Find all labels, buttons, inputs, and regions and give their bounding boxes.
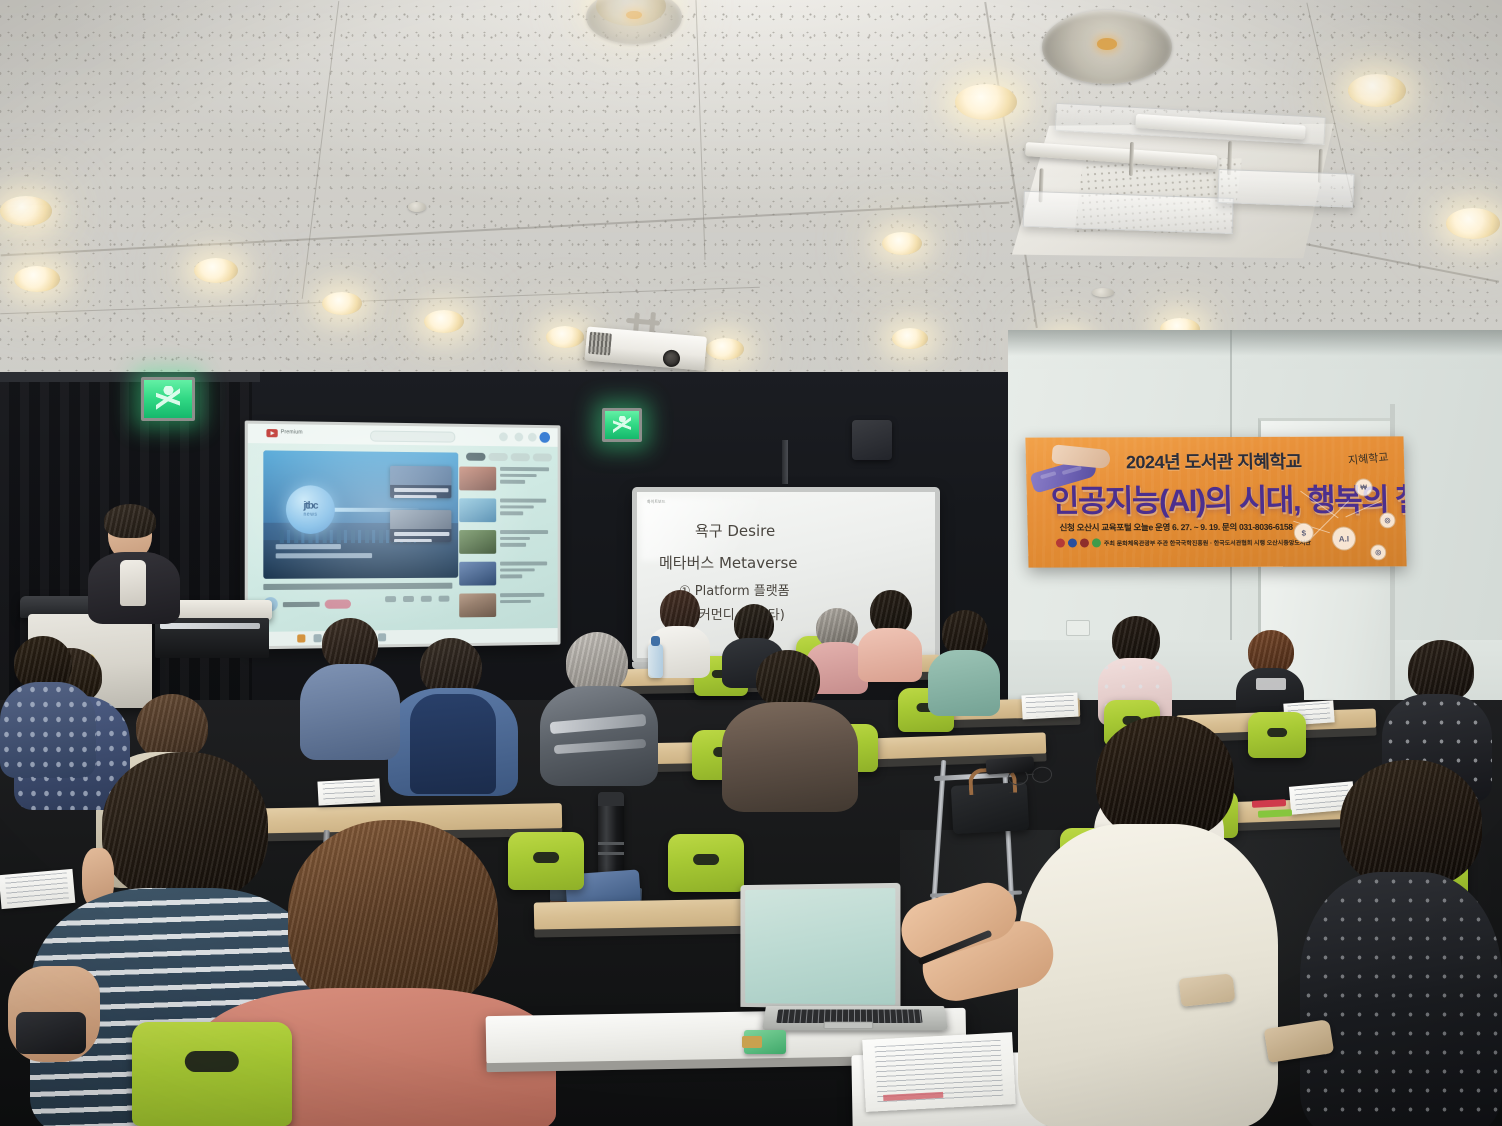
hair	[1112, 616, 1160, 664]
downlight	[546, 326, 584, 348]
banner-info-line: 신청 오산시 교육포털 오늘e 운영 6. 27. ~ 9. 19. 문의 03…	[1059, 521, 1292, 534]
laptop-lid	[740, 883, 900, 1009]
banner-orgs-text: 주최 문화체육관광부 주관 한국국학진흥원 · 한국도서관협회 시행 오산시중앙…	[1104, 538, 1311, 548]
small-object	[742, 1036, 762, 1048]
running-man-icon	[156, 386, 181, 411]
console-control-strip[interactable]	[160, 623, 260, 629]
torso	[858, 628, 922, 682]
hair	[756, 650, 820, 708]
downlight	[14, 266, 60, 292]
hair	[136, 694, 208, 760]
downlight	[882, 232, 922, 255]
vest	[410, 694, 496, 794]
attendee-right-foreground	[1300, 760, 1502, 1126]
torso	[1300, 872, 1502, 1126]
attendee-grey-jacket	[540, 632, 658, 782]
wall-outlet	[1066, 620, 1090, 636]
hair	[566, 632, 628, 694]
attendee-brown-shirt	[722, 650, 858, 810]
ai-network-graphic: ₩ ◎ $ A.I ◎	[1280, 474, 1400, 560]
shirt-print	[1256, 678, 1286, 690]
banner-organizations: 주최 문화체육관광부 주관 한국국학진흥원 · 한국도서관협회 시행 오산시중앙…	[1056, 538, 1311, 548]
hair	[1096, 716, 1234, 840]
network-node: ◎	[1379, 512, 1395, 528]
laptop-touchpad[interactable]	[823, 1022, 873, 1029]
projector-vent	[588, 332, 612, 356]
laptop-display[interactable]	[745, 888, 895, 1005]
hair	[1408, 640, 1474, 702]
sandal	[1179, 973, 1236, 1006]
org-logo-icon	[1056, 539, 1065, 548]
network-node: ₩	[1354, 478, 1372, 496]
exit-sign-left	[141, 377, 195, 421]
attendee-at-laptop	[1018, 716, 1278, 1126]
lecturer	[86, 508, 182, 620]
lecturer-hair	[104, 504, 156, 538]
chair[interactable]	[132, 1022, 292, 1126]
torso	[1018, 824, 1278, 1126]
ac-deflector-panel	[1023, 191, 1234, 234]
ceiling-ac-unit	[974, 78, 1407, 307]
laptop-base	[762, 1006, 948, 1031]
classroom-photo: Premium jtbc news	[0, 0, 1502, 1126]
screen-surface: Premium jtbc news	[248, 424, 558, 647]
downlight	[322, 292, 362, 315]
downlight	[0, 196, 52, 226]
network-node: A.I	[1332, 527, 1357, 551]
screen-light-bloom	[248, 424, 558, 647]
laptop-keyboard[interactable]	[776, 1009, 923, 1023]
downlight	[1446, 208, 1500, 239]
network-node: $	[1294, 523, 1314, 543]
lecturer-blouse	[120, 560, 146, 606]
attendee	[928, 610, 1000, 714]
attendee	[300, 618, 400, 758]
curtain-rail	[0, 372, 260, 382]
torso	[540, 686, 658, 786]
held-device	[16, 1012, 86, 1054]
org-logo-icon	[1092, 538, 1101, 547]
wall-speaker	[852, 420, 892, 460]
org-logo-icon	[1068, 538, 1077, 547]
torso	[722, 702, 858, 812]
attendee-navy-vest	[388, 638, 518, 796]
network-node: ◎	[1370, 544, 1386, 560]
downlight	[424, 310, 464, 333]
thermos	[598, 792, 624, 878]
hair	[322, 618, 378, 670]
exit-sign-center	[602, 408, 642, 442]
banner-subtitle: 2024년 도서관 지혜학교	[1126, 448, 1302, 475]
running-man-icon	[613, 416, 631, 434]
downlight	[194, 258, 238, 283]
chair[interactable]	[668, 834, 744, 892]
projection-screen: Premium jtbc news	[245, 421, 561, 650]
event-banner: 2024년 도서관 지혜학교 인공지능(AI)의 시대, 행복의 철학 지혜학교…	[1025, 436, 1406, 567]
papers	[862, 1032, 1016, 1112]
whiteboard-text-line: 메타버스 Metaverse	[659, 552, 798, 573]
torso	[300, 664, 400, 760]
downlight	[892, 328, 928, 349]
whiteboard-label: 화이트보드	[647, 499, 665, 505]
whiteboard-text-line: 욕구 Desire	[695, 520, 775, 541]
org-logo-icon	[1080, 538, 1089, 547]
recessed-downlight-can	[1042, 10, 1172, 84]
ac-deflector-panel	[1217, 169, 1354, 208]
attendee	[858, 590, 922, 680]
whiteboard-support-arm	[782, 440, 788, 484]
hair	[288, 820, 498, 1014]
smoke-detector	[408, 202, 426, 212]
ceiling-projector	[584, 313, 716, 380]
torso	[928, 650, 1000, 716]
hair	[1340, 760, 1482, 888]
wall-shadow	[1008, 330, 1502, 356]
